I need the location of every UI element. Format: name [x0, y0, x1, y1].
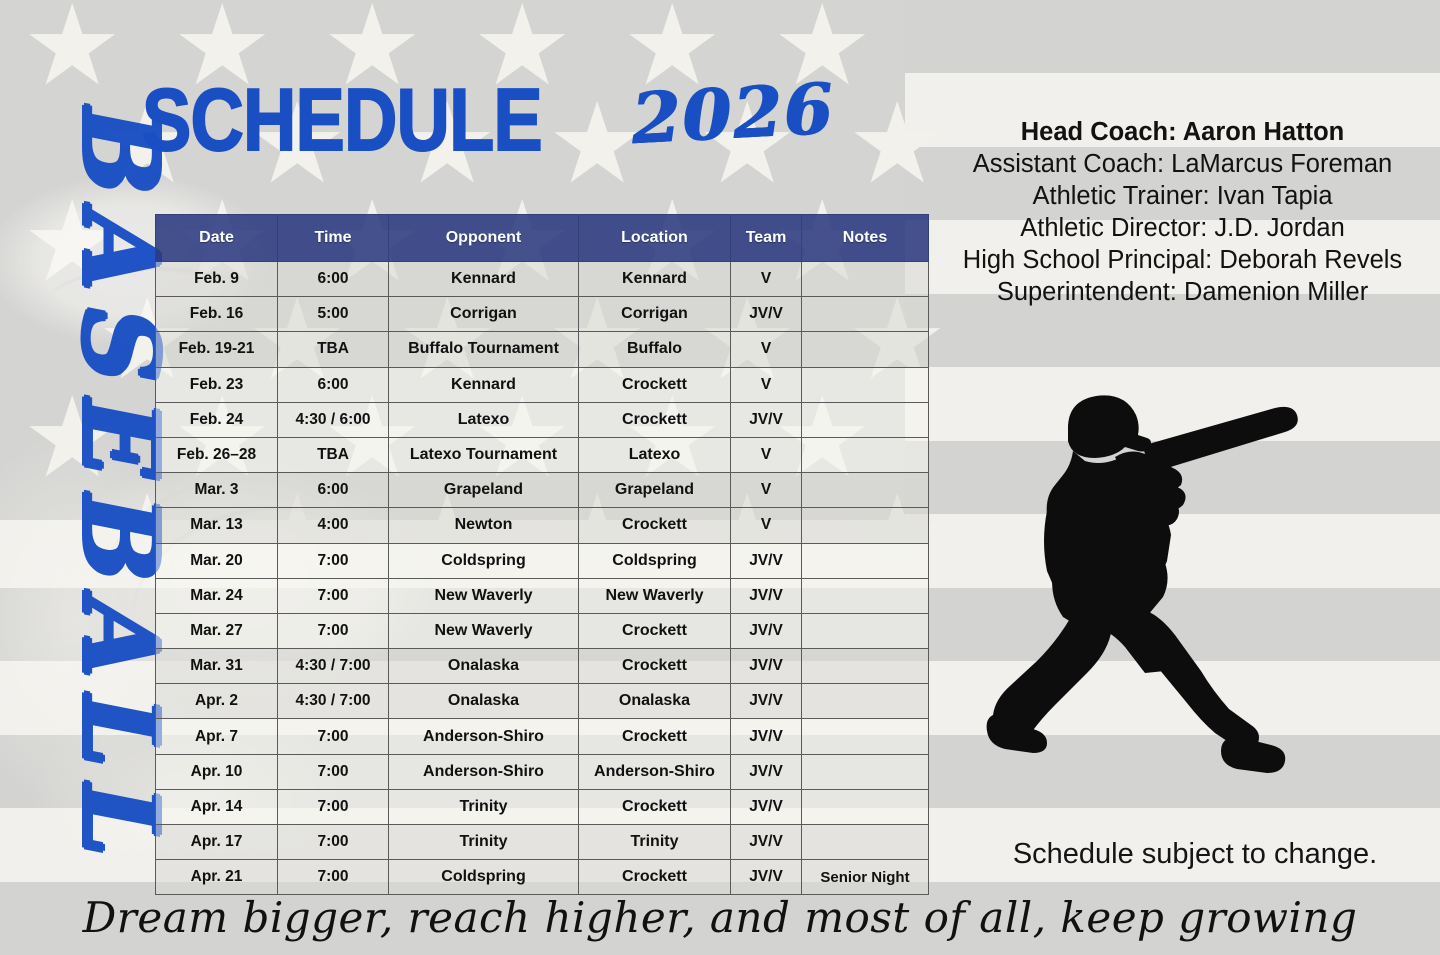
table-row: Feb. 26–28TBALatexo TournamentLatexoV [156, 437, 929, 472]
cell-team: JV/V [731, 578, 802, 613]
title-year: 2026 [630, 67, 837, 161]
cell-time: TBA [278, 437, 389, 472]
cell-opponent: Coldspring [389, 543, 579, 578]
cell-time: 6:00 [278, 367, 389, 402]
cell-time: 6:00 [278, 473, 389, 508]
cell-time: 6:00 [278, 262, 389, 297]
cell-location: Anderson-Shiro [579, 754, 731, 789]
cell-date: Feb. 19-21 [156, 332, 278, 367]
cell-notes [802, 825, 929, 860]
table-row: Feb. 19-21TBABuffalo TournamentBuffaloV [156, 332, 929, 367]
col-header-time: Time [278, 215, 389, 262]
cell-notes: Senior Night [802, 860, 929, 895]
cell-location: Crockett [579, 649, 731, 684]
cell-team: V [731, 437, 802, 472]
cell-date: Apr. 21 [156, 860, 278, 895]
cell-notes [802, 754, 929, 789]
schedule-poster: ★★★★★★★★★★★★★★★★★★★★★★★★★★★★★★★★★★★★ BAS… [0, 0, 1440, 955]
cell-team: JV/V [731, 789, 802, 824]
col-header-location: Location [579, 215, 731, 262]
cell-date: Feb. 16 [156, 297, 278, 332]
cell-date: Mar. 24 [156, 578, 278, 613]
cell-location: Trinity [579, 825, 731, 860]
cell-location: Crockett [579, 367, 731, 402]
cell-opponent: Buffalo Tournament [389, 332, 579, 367]
cell-opponent: Anderson-Shiro [389, 719, 579, 754]
cell-time: 7:00 [278, 543, 389, 578]
cell-time: TBA [278, 332, 389, 367]
cell-date: Mar. 3 [156, 473, 278, 508]
cell-date: Apr. 14 [156, 789, 278, 824]
cell-opponent: Trinity [389, 789, 579, 824]
cell-opponent: Newton [389, 508, 579, 543]
cell-notes [802, 262, 929, 297]
cell-date: Feb. 26–28 [156, 437, 278, 472]
cell-date: Mar. 27 [156, 613, 278, 648]
cell-team: JV/V [731, 719, 802, 754]
cell-notes [802, 684, 929, 719]
cell-location: Latexo [579, 437, 731, 472]
cell-notes [802, 402, 929, 437]
cell-opponent: New Waverly [389, 578, 579, 613]
cell-team: V [731, 367, 802, 402]
cell-notes [802, 719, 929, 754]
cell-opponent: Latexo Tournament [389, 437, 579, 472]
cell-team: JV/V [731, 754, 802, 789]
cell-notes [802, 789, 929, 824]
cell-opponent: Anderson-Shiro [389, 754, 579, 789]
cell-location: New Waverly [579, 578, 731, 613]
cell-opponent: Latexo [389, 402, 579, 437]
table-row: Apr. 77:00Anderson-ShiroCrockettJV/V [156, 719, 929, 754]
cell-notes [802, 473, 929, 508]
cell-date: Feb. 24 [156, 402, 278, 437]
cell-opponent: Coldspring [389, 860, 579, 895]
cell-time: 4:30 / 7:00 [278, 684, 389, 719]
cell-location: Crockett [579, 719, 731, 754]
cell-date: Apr. 7 [156, 719, 278, 754]
table-row: Apr. 107:00Anderson-ShiroAnderson-ShiroJ… [156, 754, 929, 789]
table-row: Feb. 96:00KennardKennardV [156, 262, 929, 297]
cell-location: Buffalo [579, 332, 731, 367]
cell-date: Apr. 10 [156, 754, 278, 789]
table-row: Apr. 24:30 / 7:00OnalaskaOnalaskaJV/V [156, 684, 929, 719]
cell-time: 7:00 [278, 578, 389, 613]
cell-notes [802, 367, 929, 402]
cell-notes [802, 332, 929, 367]
cell-location: Grapeland [579, 473, 731, 508]
cell-date: Feb. 9 [156, 262, 278, 297]
cell-notes [802, 578, 929, 613]
cell-location: Crockett [579, 613, 731, 648]
cell-team: JV/V [731, 860, 802, 895]
cell-location: Onalaska [579, 684, 731, 719]
cell-notes [802, 649, 929, 684]
table-row: Apr. 177:00TrinityTrinityJV/V [156, 825, 929, 860]
batter-silhouette [975, 385, 1375, 790]
page-title: SCHEDULE 2026 [142, 78, 835, 161]
staff-line: Athletic Trainer: Ivan Tapia [930, 180, 1435, 212]
cell-opponent: Corrigan [389, 297, 579, 332]
table-row: Mar. 134:00NewtonCrockettV [156, 508, 929, 543]
staff-line: Assistant Coach: LaMarcus Foreman [930, 148, 1435, 180]
cell-location: Crockett [579, 789, 731, 824]
cell-location: Coldspring [579, 543, 731, 578]
cell-team: V [731, 508, 802, 543]
cell-team: JV/V [731, 297, 802, 332]
cell-team: JV/V [731, 684, 802, 719]
cell-time: 7:00 [278, 789, 389, 824]
cell-opponent: Grapeland [389, 473, 579, 508]
col-header-opponent: Opponent [389, 215, 579, 262]
cell-time: 4:30 / 6:00 [278, 402, 389, 437]
cell-date: Feb. 23 [156, 367, 278, 402]
cell-location: Crockett [579, 508, 731, 543]
table-row: Feb. 165:00CorriganCorriganJV/V [156, 297, 929, 332]
cell-location: Crockett [579, 860, 731, 895]
staff-line: High School Principal: Deborah Revels [930, 244, 1435, 276]
col-header-date: Date [156, 215, 278, 262]
cell-team: JV/V [731, 649, 802, 684]
table-header-row: Date Time Opponent Location Team Notes [156, 215, 929, 262]
cell-time: 7:00 [278, 719, 389, 754]
cell-date: Apr. 2 [156, 684, 278, 719]
tagline: Dream bigger, reach higher, and most of … [0, 893, 1440, 942]
cell-date: Apr. 17 [156, 825, 278, 860]
cell-date: Mar. 20 [156, 543, 278, 578]
cell-location: Kennard [579, 262, 731, 297]
cell-opponent: New Waverly [389, 613, 579, 648]
cell-time: 7:00 [278, 754, 389, 789]
cell-time: 7:00 [278, 613, 389, 648]
staff-list: Head Coach: Aaron HattonAssistant Coach:… [930, 116, 1435, 308]
cell-notes [802, 613, 929, 648]
staff-line: Head Coach: Aaron Hatton [930, 116, 1435, 148]
cell-opponent: Kennard [389, 367, 579, 402]
cell-notes [802, 508, 929, 543]
table-row: Mar. 277:00New WaverlyCrockettJV/V [156, 613, 929, 648]
cell-notes [802, 543, 929, 578]
table-row: Mar. 207:00ColdspringColdspringJV/V [156, 543, 929, 578]
cell-team: JV/V [731, 543, 802, 578]
cell-time: 5:00 [278, 297, 389, 332]
schedule-table: Date Time Opponent Location Team Notes F… [155, 214, 929, 895]
table-row: Mar. 247:00New WaverlyNew WaverlyJV/V [156, 578, 929, 613]
cell-opponent: Trinity [389, 825, 579, 860]
cell-team: V [731, 262, 802, 297]
staff-line: Athletic Director: J.D. Jordan [930, 212, 1435, 244]
table-row: Mar. 314:30 / 7:00OnalaskaCrockettJV/V [156, 649, 929, 684]
cell-opponent: Onalaska [389, 684, 579, 719]
cell-notes [802, 297, 929, 332]
cell-time: 4:00 [278, 508, 389, 543]
cell-opponent: Kennard [389, 262, 579, 297]
subject-to-change-note: Schedule subject to change. [950, 838, 1440, 871]
staff-line: Superintendent: Damenion Miller [930, 276, 1435, 308]
table-row: Apr. 217:00ColdspringCrockettJV/VSenior … [156, 860, 929, 895]
table-row: Feb. 236:00KennardCrockettV [156, 367, 929, 402]
cell-time: 7:00 [278, 860, 389, 895]
table-row: Mar. 36:00GrapelandGrapelandV [156, 473, 929, 508]
cell-date: Mar. 13 [156, 508, 278, 543]
table-row: Apr. 147:00TrinityCrockettJV/V [156, 789, 929, 824]
cell-team: V [731, 473, 802, 508]
title-schedule: SCHEDULE [142, 80, 542, 161]
cell-team: JV/V [731, 402, 802, 437]
cell-team: JV/V [731, 825, 802, 860]
cell-date: Mar. 31 [156, 649, 278, 684]
cell-opponent: Onalaska [389, 649, 579, 684]
cell-time: 4:30 / 7:00 [278, 649, 389, 684]
table-row: Feb. 244:30 / 6:00LatexoCrockettJV/V [156, 402, 929, 437]
cell-location: Crockett [579, 402, 731, 437]
cell-team: JV/V [731, 613, 802, 648]
cell-notes [802, 437, 929, 472]
cell-location: Corrigan [579, 297, 731, 332]
cell-team: V [731, 332, 802, 367]
col-header-team: Team [731, 215, 802, 262]
col-header-notes: Notes [802, 215, 929, 262]
cell-time: 7:00 [278, 825, 389, 860]
